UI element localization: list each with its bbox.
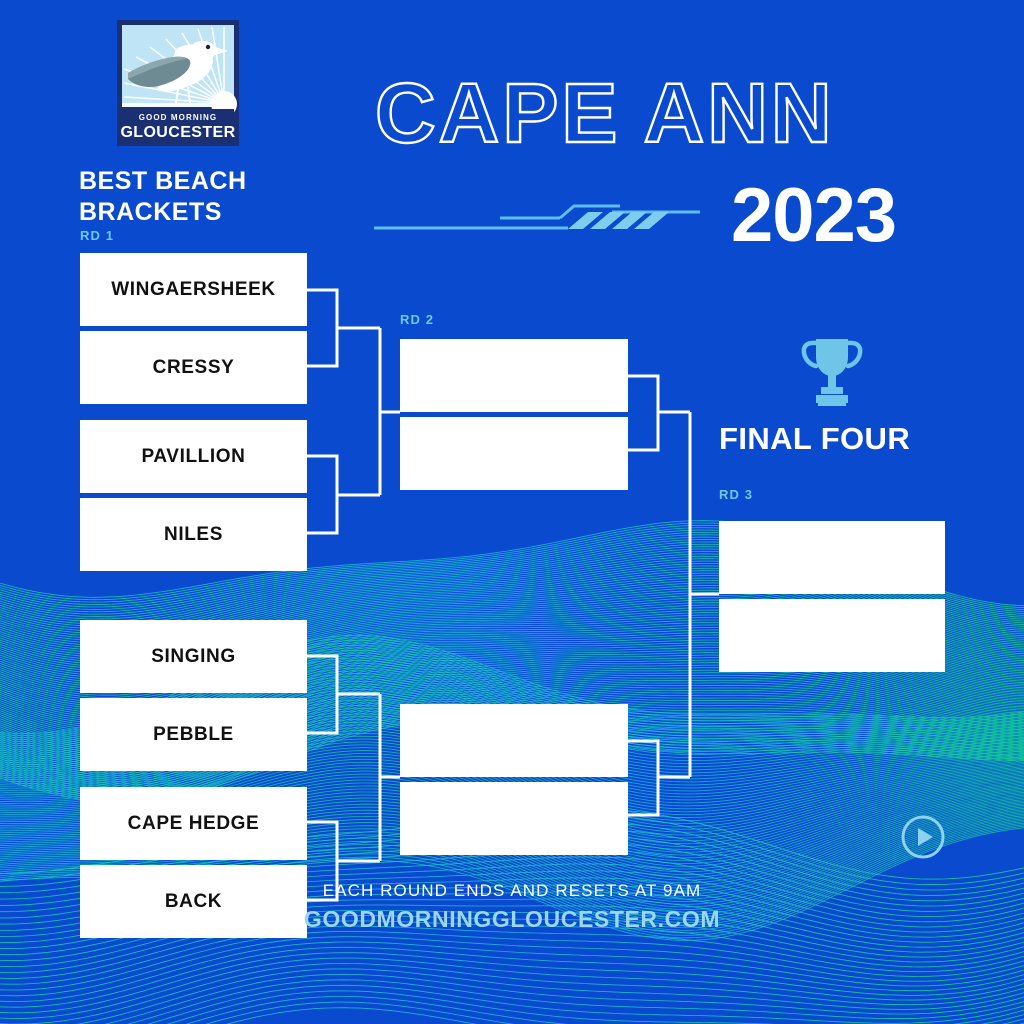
bracket-box-r1-1[interactable]: CRESSY bbox=[80, 331, 307, 404]
logo-top-text: GOOD MORNING bbox=[139, 113, 218, 122]
bracket-box-r1-5[interactable]: PEBBLE bbox=[80, 698, 307, 771]
page-title-line1: BEST BEACH bbox=[79, 166, 247, 196]
bracket-label-r1-2: PAVILLION bbox=[142, 446, 246, 468]
bracket-box-r2-2[interactable] bbox=[400, 704, 628, 777]
final-four-heading: FINAL FOUR bbox=[719, 421, 910, 457]
main-title-capeann: CAPE ANN bbox=[375, 78, 955, 158]
bracket-box-r2-3[interactable] bbox=[400, 782, 628, 855]
bracket-box-r1-4[interactable]: SINGING bbox=[80, 620, 307, 693]
bracket-label-r1-1: CRESSY bbox=[153, 357, 235, 379]
bracket-label-r1-6: CAPE HEDGE bbox=[128, 813, 260, 835]
bracket-label-r1-0: WINGAERSHEEK bbox=[111, 279, 276, 301]
page-title-line2: BRACKETS bbox=[79, 197, 222, 227]
bracket-box-r1-3[interactable]: NILES bbox=[80, 498, 307, 571]
bracket-label-r1-3: NILES bbox=[164, 524, 223, 546]
round-3-label: RD 3 bbox=[719, 487, 753, 502]
bracket-box-r2-0[interactable] bbox=[400, 339, 628, 412]
bracket-label-r1-5: PEBBLE bbox=[153, 724, 234, 746]
year-text: 2023 bbox=[731, 178, 896, 254]
bracket-poster: GOOD MORNING GLOUCESTER BEST BEACH BRACK… bbox=[0, 0, 1024, 1024]
footer-website[interactable]: GOODMORNINGGLOUCESTER.COM bbox=[0, 906, 1024, 933]
round-2-label: RD 2 bbox=[400, 312, 434, 327]
good-morning-gloucester-logo: GOOD MORNING GLOUCESTER bbox=[116, 19, 240, 147]
bracket-box-r1-2[interactable]: PAVILLION bbox=[80, 420, 307, 493]
play-circle-icon[interactable] bbox=[900, 814, 946, 860]
bracket-box-r2-1[interactable] bbox=[400, 417, 628, 490]
bracket-label-r1-4: SINGING bbox=[151, 646, 235, 668]
bracket-box-r1-0[interactable]: WINGAERSHEEK bbox=[80, 253, 307, 326]
bracket-box-r3-0[interactable] bbox=[719, 521, 945, 594]
wave-stripe-decoration bbox=[372, 196, 702, 236]
bracket-box-r3-1[interactable] bbox=[719, 599, 945, 672]
trophy-icon bbox=[793, 333, 871, 411]
footer-note: EACH ROUND ENDS AND RESETS AT 9AM bbox=[0, 881, 1024, 901]
bracket-box-r1-6[interactable]: CAPE HEDGE bbox=[80, 787, 307, 860]
main-title-text: CAPE ANN bbox=[375, 78, 835, 158]
logo-bottom-text: GLOUCESTER bbox=[120, 124, 235, 141]
round-1-label: RD 1 bbox=[80, 228, 114, 243]
